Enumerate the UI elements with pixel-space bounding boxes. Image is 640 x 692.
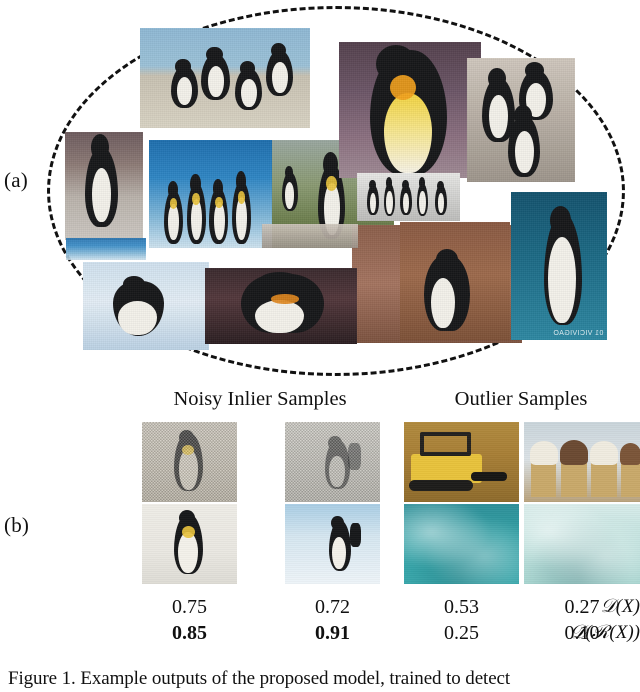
- photo-penguin-group-bw: [357, 173, 460, 221]
- header-outlier-samples: Outlier Samples: [402, 388, 640, 411]
- photo-rockhopper-penguin: [205, 268, 357, 344]
- value-d-x-col4: 0.27: [524, 596, 640, 619]
- column-headers: Noisy Inlier Samples Outlier Samples: [0, 388, 640, 414]
- photo-penguin-on-snow: [83, 262, 209, 350]
- score-row-d-r-x: 0.85 0.91 0.25 0.10: [0, 622, 640, 646]
- panel-b: Noisy Inlier Samples Outlier Samples X: [0, 386, 640, 654]
- photo-penguin-on-rocks: [65, 132, 143, 240]
- cell-output-restored-adelie-penguin-snow: [285, 504, 380, 584]
- value-d-x-col3: 0.53: [404, 596, 519, 619]
- photo-magellanic-penguin-dirt: [400, 222, 510, 340]
- photo-king-penguin-portrait: [339, 42, 481, 178]
- photo-penguins-on-beach: [140, 28, 310, 128]
- cell-input-noisy-adelie-penguin: [285, 422, 380, 502]
- value-d-rx-col1: 0.85: [142, 622, 237, 645]
- cell-output-pale-teal-blur-reconstruction: [524, 504, 640, 584]
- cell-input-ice-cream-cones: [524, 422, 640, 502]
- value-d-rx-col3: 0.25: [404, 622, 519, 645]
- cell-output-restored-king-penguin: [142, 504, 237, 584]
- photo-penguins-on-cobbles-small: [262, 224, 358, 248]
- photo-chinstrap-penguin-teal: 01 VICIVIGAO: [511, 192, 607, 340]
- value-d-rx-col4: 0.10: [524, 622, 640, 645]
- value-d-x-col1: 0.75: [142, 596, 237, 619]
- figure-1: (a): [0, 0, 640, 692]
- value-d-rx-col2: 0.91: [285, 622, 380, 645]
- panel-a: (a): [0, 0, 640, 385]
- figure-caption: Figure 1. Example outputs of the propose…: [8, 668, 640, 690]
- panel-a-label: (a): [4, 168, 28, 193]
- score-row-d-x: 0.75 0.72 0.53 0.27: [0, 596, 640, 620]
- photo-penguins-on-cobbles: [467, 58, 575, 182]
- cell-input-noisy-king-penguin: [142, 422, 237, 502]
- cell-output-teal-blur-reconstruction: [404, 504, 519, 584]
- value-d-x-col2: 0.72: [285, 596, 380, 619]
- photo-ice-strip: [66, 238, 146, 260]
- panel-b-label: (b): [4, 513, 29, 538]
- header-noisy-inlier-samples: Noisy Inlier Samples: [140, 388, 380, 411]
- image-watermark: 01 VICIVIGAO: [553, 330, 603, 337]
- photo-king-penguins-blue-ice: [149, 140, 275, 248]
- cell-input-bulldozer: [404, 422, 519, 502]
